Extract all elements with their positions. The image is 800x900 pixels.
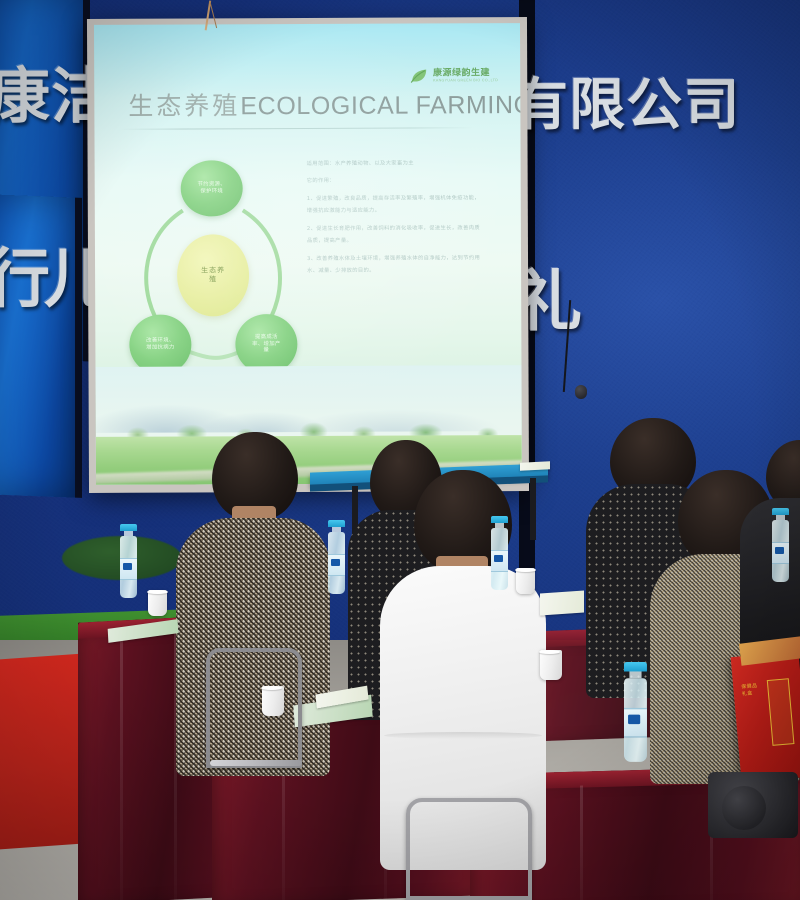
shirt-fold [384, 732, 542, 739]
paper-cup-1[interactable] [148, 590, 167, 616]
diagram-node-top: 节约资源、 保护环境 [181, 160, 243, 216]
bottle-cap [328, 520, 345, 527]
bottle-neck [629, 671, 641, 678]
bottle-label [624, 708, 647, 738]
bottle-body [120, 536, 137, 598]
desk-paper [520, 461, 550, 471]
bottle-brand-mark [494, 555, 503, 562]
bottle-body [328, 532, 345, 594]
diagram-node-center: 生态养殖 [177, 234, 249, 316]
bottle-label [772, 542, 789, 564]
projection-screen: 生态养殖 ECOLOGICAL FARMING 康源绿韵生建 KANGYUAN … [87, 17, 529, 493]
blue-table-leg-right [530, 478, 536, 540]
diagram-node-bottom-right-label: 提高成活 率、增加产 量 [252, 334, 281, 354]
table-fold [580, 785, 583, 900]
slide-title-en: ECOLOGICAL FARMING [240, 91, 522, 121]
bottle-body [491, 528, 508, 590]
handout-2[interactable] [540, 590, 584, 615]
slide-title: 生态养殖 ECOLOGICAL FARMING [128, 85, 522, 123]
slide-title-cn: 生态养殖 [128, 86, 240, 122]
chair-front-left[interactable] [206, 648, 302, 768]
bottle-body [772, 520, 789, 582]
bottle-label [120, 558, 137, 580]
seminar-photo: 康洁 有限公司 行儿 礼 生态养殖 ECOLOGICAL FARMING [0, 0, 800, 900]
bottle-cap [491, 516, 508, 523]
ecological-cycle-diagram: 节约资源、 保护环境 生态养殖 改善环境、 增加抗病力 提高成活 率、增加产 量 [123, 154, 304, 380]
logo-name: 康源绿韵生建 [433, 68, 498, 77]
gift-box-text: 保健品礼盒 [741, 683, 762, 699]
bottle-brand-mark [775, 547, 784, 554]
slide-body-text: 适用范围：水产养殖动物、以及大家畜为主 它的作用： 1、促进繁殖，改良品质，提高… [307, 157, 484, 282]
camera-lens [722, 786, 766, 830]
wall-text-right-top: 有限公司 [512, 60, 740, 141]
body-paragraph-2: 2、促进生长育肥作用，改善饲料的消化吸收率，促进生长，改善肉质品质，提高产量。 [307, 222, 483, 248]
water-bottle-2[interactable] [328, 520, 345, 594]
slide-surface: 生态养殖 ECOLOGICAL FARMING 康源绿韵生建 KANGYUAN … [94, 23, 522, 485]
bottle-body [624, 678, 647, 762]
body-paragraph-1: 1、促进繁殖，改良品质，提高存活率及繁殖率，增强机体免疫功能，增强抗应激能力与适… [307, 192, 483, 218]
logo-subtitle: KANGYUAN GREEN BIO CO.,LTD [433, 79, 498, 83]
bottle-cap [624, 662, 647, 671]
leaf-icon [409, 67, 429, 84]
paper-cup-3[interactable] [516, 568, 535, 594]
body-subheading: 它的作用： [307, 175, 483, 188]
water-bottle-5[interactable] [772, 508, 789, 582]
water-bottle-3[interactable] [491, 516, 508, 590]
diagram-node-bottom-left-label: 改善环境、 增加抗病力 [146, 338, 175, 352]
bottle-brand-mark [628, 715, 640, 724]
chair-center[interactable] [406, 798, 532, 900]
diagram-node-top-label: 节约资源、 保护环境 [197, 182, 226, 196]
bottle-label [491, 550, 508, 572]
body-paragraph-3: 3、改善养殖水体及土壤环境，增强养殖水体的自净能力，达到节约用水、减量、少排放的… [307, 252, 483, 278]
paper-cup-4[interactable] [540, 650, 562, 680]
bottle-brand-mark [123, 563, 132, 570]
wall-sensor [575, 385, 587, 399]
gift-box[interactable]: 保健品礼盒 [731, 651, 800, 782]
gift-box-panel [767, 678, 795, 746]
water-bottle-1[interactable] [120, 524, 137, 598]
bottle-cap [120, 524, 137, 531]
chair-bar-left [210, 760, 302, 766]
company-logo: 康源绿韵生建 KANGYUAN GREEN BIO CO.,LTD [409, 67, 498, 84]
wall-text-left-bottom: 行儿 [0, 228, 102, 320]
water-bottle-4[interactable] [624, 662, 647, 762]
bottle-label [328, 554, 345, 576]
diagram-node-center-label: 生态养殖 [200, 266, 226, 284]
table-fold [120, 634, 123, 900]
bottle-cap [772, 508, 789, 515]
title-underline [120, 127, 472, 130]
body-heading: 适用范围：水产养殖动物、以及大家畜为主 [307, 157, 483, 170]
logo-text: 康源绿韵生建 KANGYUAN GREEN BIO CO.,LTD [433, 68, 498, 83]
bottle-brand-mark [331, 559, 340, 566]
